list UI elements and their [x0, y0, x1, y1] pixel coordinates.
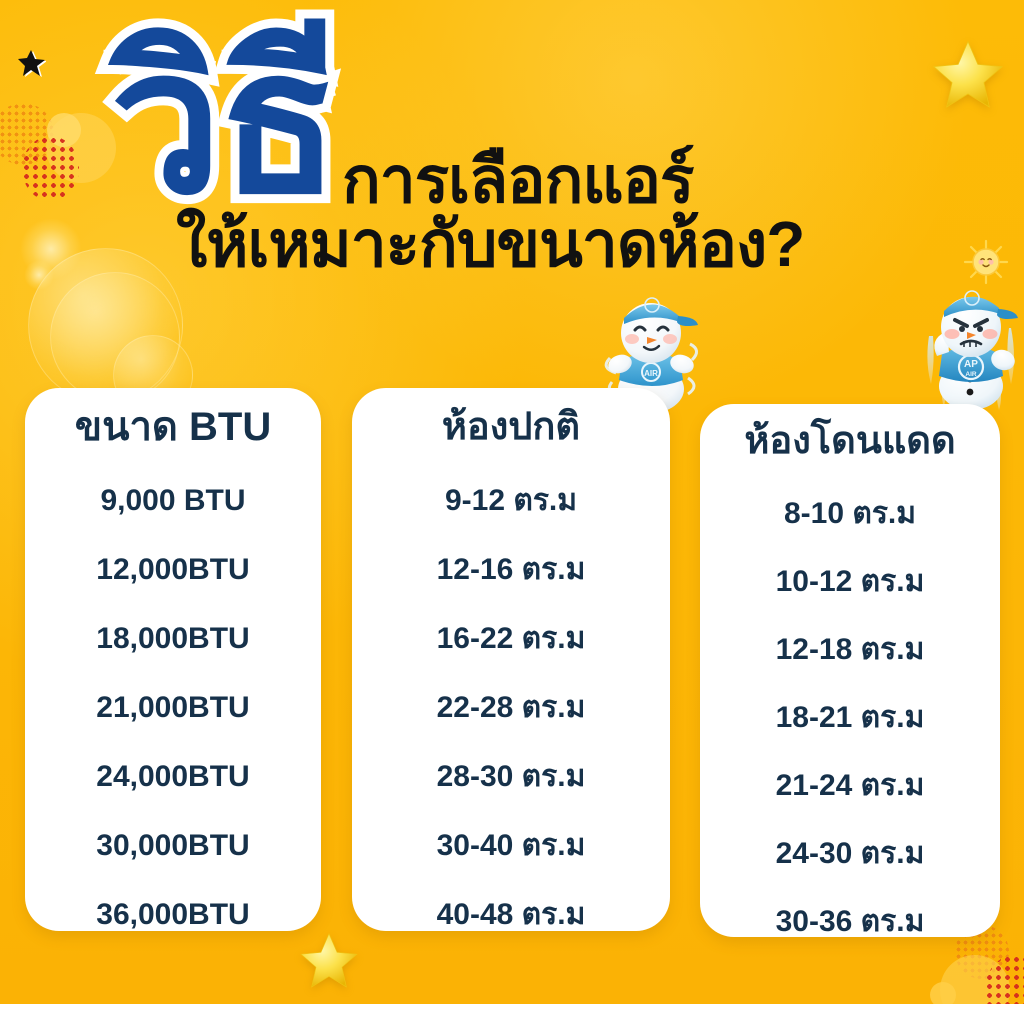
svg-text:AIR: AIR: [965, 371, 977, 378]
table-row: 8-10 ตร.ม: [700, 496, 1000, 532]
headline-subtitle-line1: การเลือกแอร์: [342, 148, 693, 212]
table-row: 10-12 ตร.ม: [700, 564, 1000, 600]
table-row: 16-22 ตร.ม: [352, 621, 670, 657]
table-row: 30-40 ตร.ม: [352, 828, 670, 864]
snowman-ap-air-mascot: AP AIR: [915, 280, 1024, 412]
table-row: 21,000BTU: [25, 690, 321, 726]
table-row: 24,000BTU: [25, 759, 321, 795]
background-panel: วิธี การเลือกแอร์ ให้เหมาะกับขนาดห้อง?: [0, 0, 1024, 1004]
table-row: 36,000BTU: [25, 897, 321, 931]
table-row: 18,000BTU: [25, 621, 321, 657]
table-row: 9,000 BTU: [25, 483, 321, 519]
card-normal-title: ห้องปกติ: [352, 404, 670, 450]
table-row: 22-28 ตร.ม: [352, 690, 670, 726]
infographic-canvas: วิธี การเลือกแอร์ ให้เหมาะกับขนาดห้อง?: [0, 0, 1024, 1024]
table-row: 18-21 ตร.ม: [700, 700, 1000, 736]
table-row: 12-18 ตร.ม: [700, 632, 1000, 668]
smiling-sun-icon: [962, 238, 1010, 286]
headline-subtitle-line2: ให้เหมาะกับขนาดห้อง?: [176, 212, 804, 276]
card-sun-exposed-room: ห้องโดนแดด 8-10 ตร.ม 10-12 ตร.ม 12-18 ตร…: [700, 404, 1000, 937]
decor-dot-right-b: [930, 982, 956, 1004]
headline: วิธี การเลือกแอร์ ให้เหมาะกับขนาดห้อง?: [0, 0, 1024, 300]
table-row: 30-36 ตร.ม: [700, 904, 1000, 937]
bottom-white-strip: [0, 1004, 1024, 1024]
card-sun-rows: 8-10 ตร.ม 10-12 ตร.ม 12-18 ตร.ม 18-21 ตร…: [700, 496, 1000, 937]
table-row: 9-12 ตร.ม: [352, 483, 670, 519]
card-btu-title: ขนาด BTU: [25, 404, 321, 450]
table-row: 12-16 ตร.ม: [352, 552, 670, 588]
star-3d-bottom: [298, 930, 360, 992]
table-row: 30,000BTU: [25, 828, 321, 864]
table-row: 24-30 ตร.ม: [700, 836, 1000, 872]
card-sun-title: ห้องโดนแดด: [700, 418, 1000, 464]
card-normal-rows: 9-12 ตร.ม 12-16 ตร.ม 16-22 ตร.ม 22-28 ตร…: [352, 483, 670, 931]
table-row: 40-48 ตร.ม: [352, 897, 670, 931]
card-btu-rows: 9,000 BTU 12,000BTU 18,000BTU 21,000BTU …: [25, 483, 321, 931]
table-row: 21-24 ตร.ม: [700, 768, 1000, 804]
svg-text:AIR: AIR: [644, 369, 658, 378]
card-normal-room: ห้องปกติ 9-12 ตร.ม 12-16 ตร.ม 16-22 ตร.ม…: [352, 388, 670, 931]
card-btu-size: ขนาด BTU 9,000 BTU 12,000BTU 18,000BTU 2…: [25, 388, 321, 931]
table-row: 12,000BTU: [25, 552, 321, 588]
table-row: 28-30 ตร.ม: [352, 759, 670, 795]
svg-text:AP: AP: [964, 359, 978, 370]
headline-howto-word: วิธี: [110, 28, 336, 218]
